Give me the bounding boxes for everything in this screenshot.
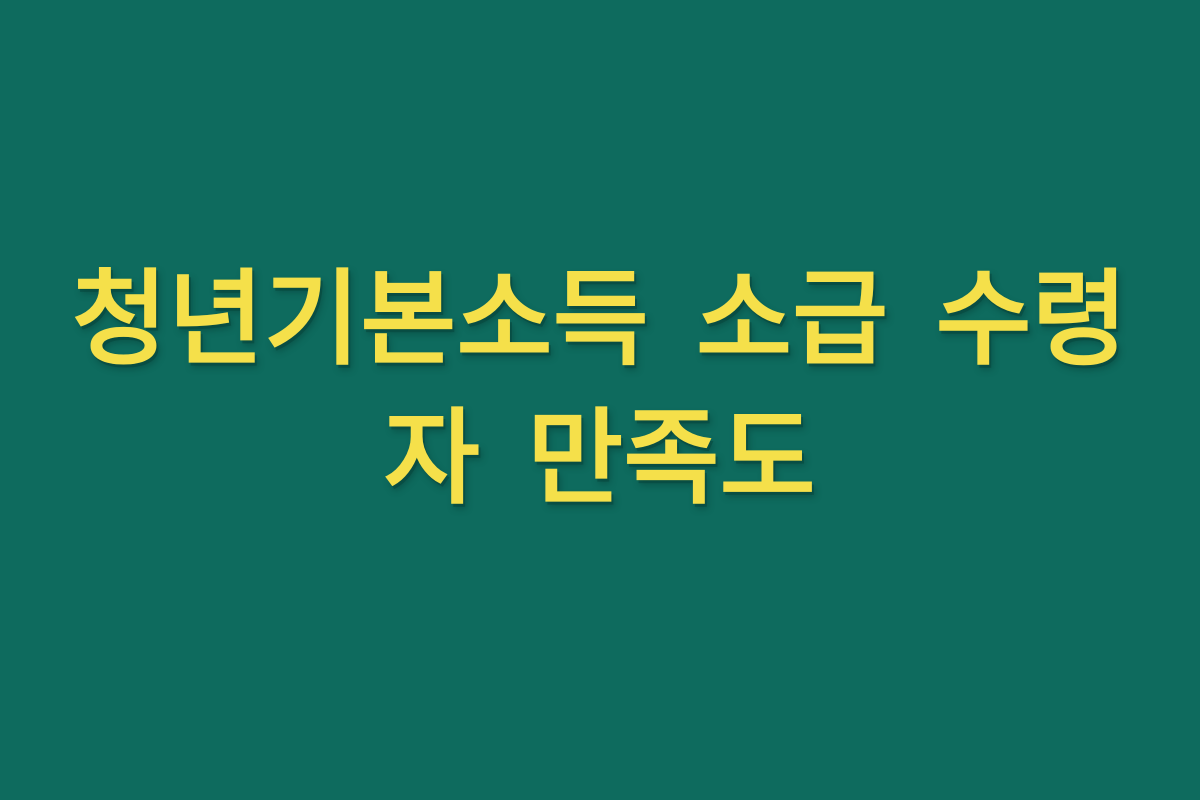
page-title: 청년기본소득 소급 수령 자 만족도 [70,250,1130,529]
title-card: 청년기본소득 소급 수령 자 만족도 [0,0,1200,800]
page-title-line-2: 자 만족도 [70,389,1130,528]
page-title-line-1: 청년기본소득 소급 수령 [70,250,1130,389]
